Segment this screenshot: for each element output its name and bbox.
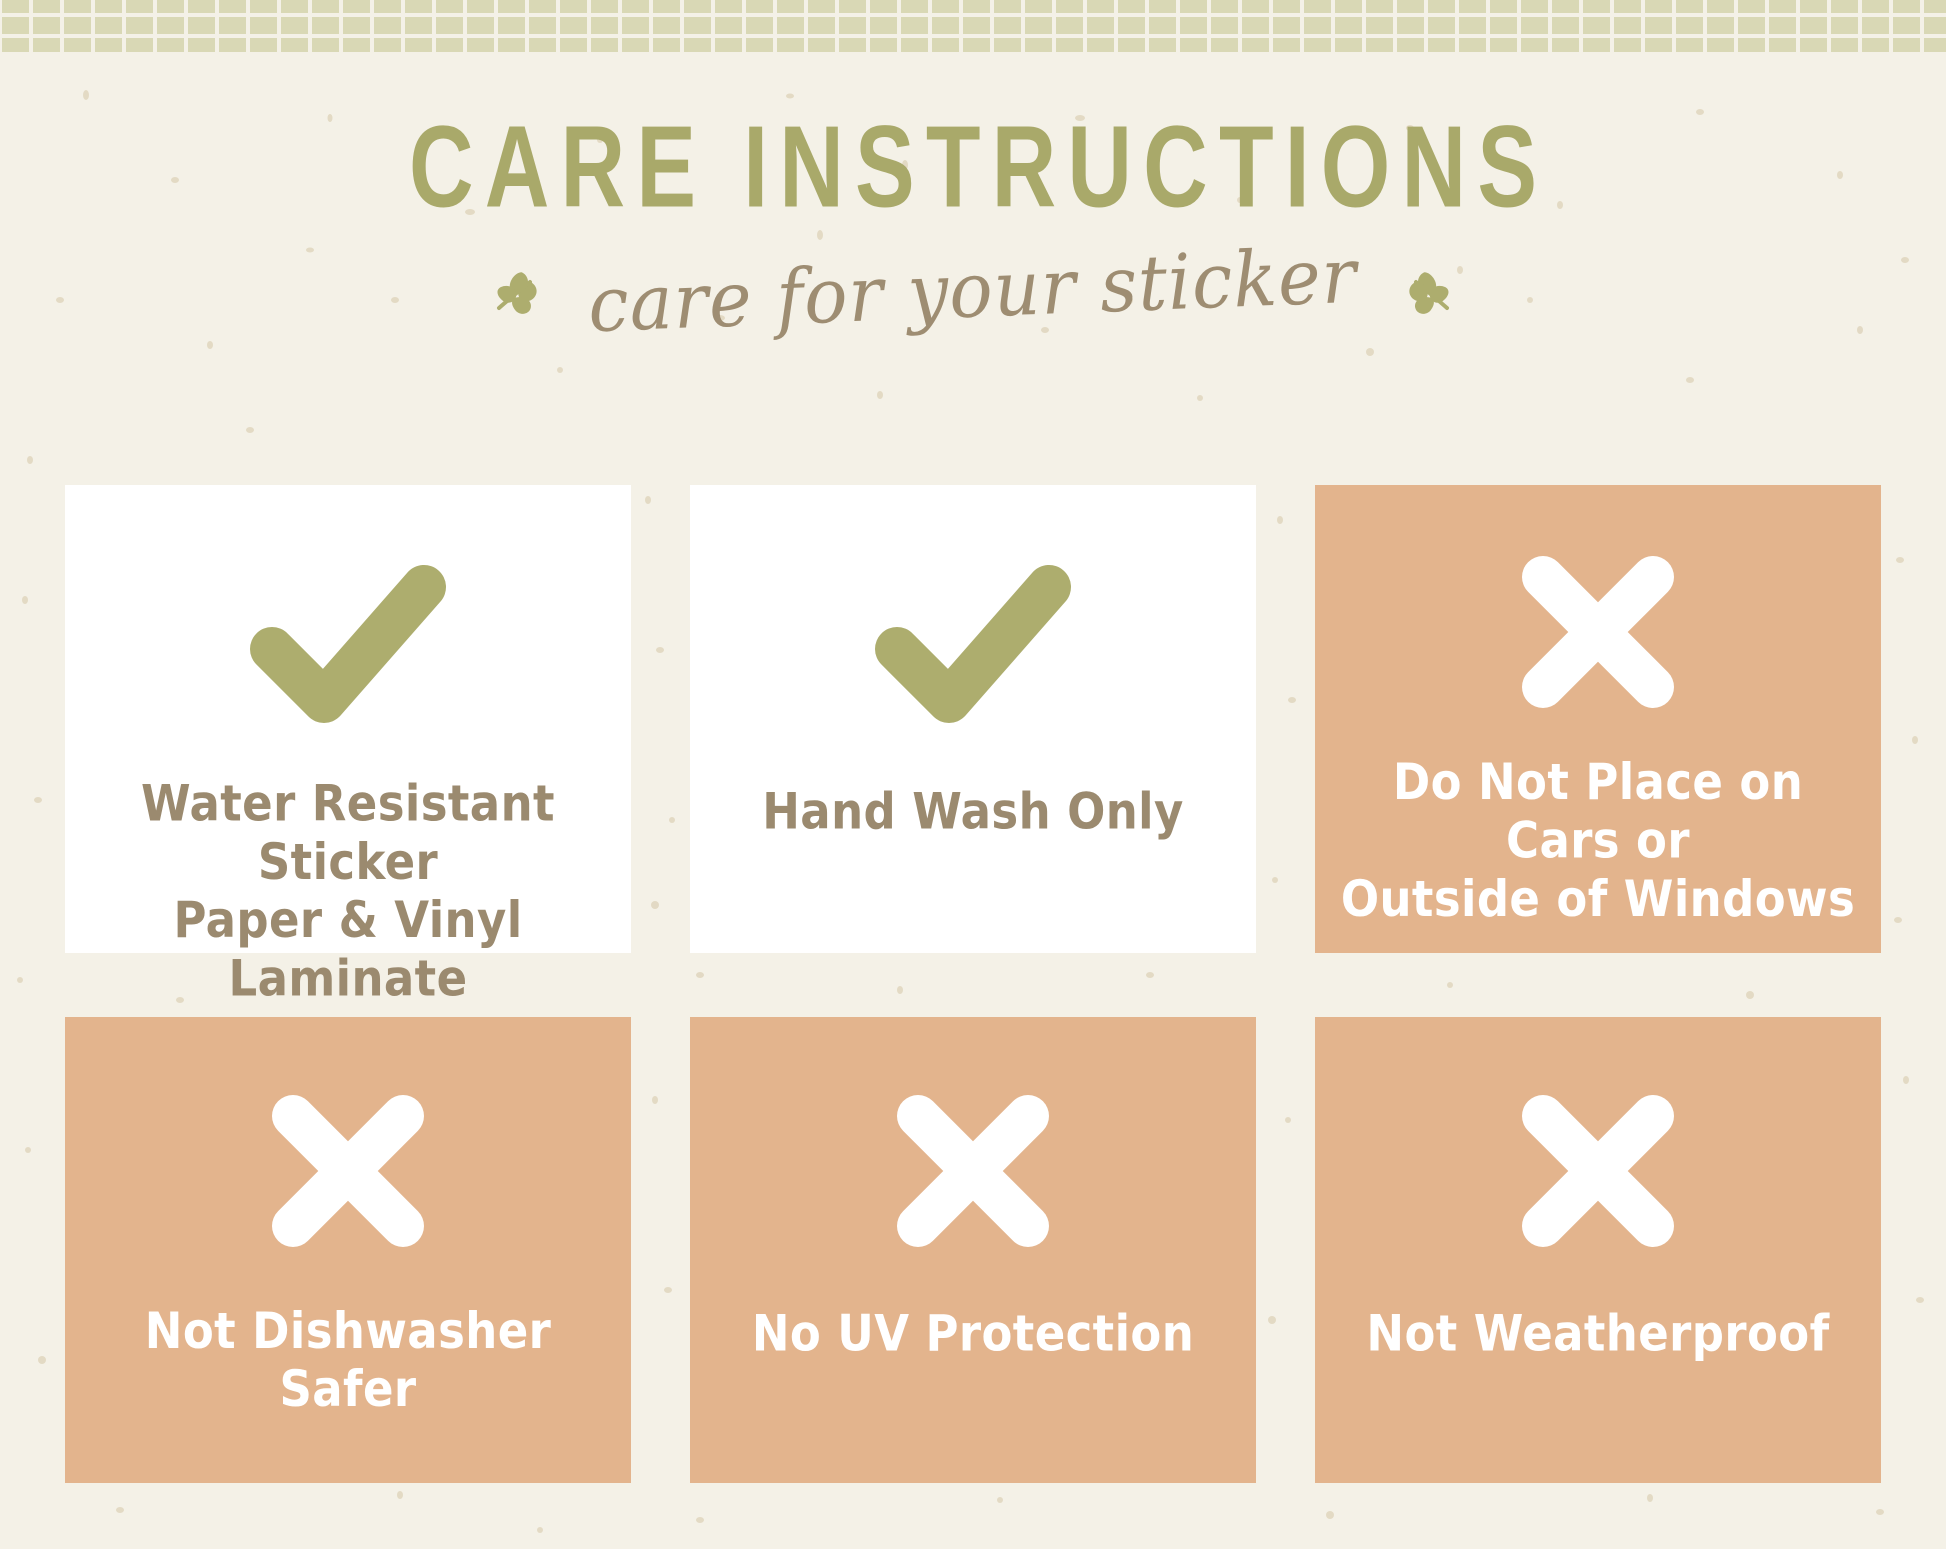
subtitle-row: care for your sticker bbox=[0, 236, 1946, 344]
card-caption: Not Dishwasher Safer bbox=[65, 1302, 631, 1419]
checkered-band bbox=[0, 0, 1946, 58]
care-card: No UV Protection bbox=[690, 1017, 1256, 1483]
care-card-grid: Water Resistant StickerPaper & Vinyl Lam… bbox=[65, 485, 1881, 1483]
card-caption-line: Not Dishwasher Safer bbox=[87, 1302, 609, 1419]
care-instructions-poster: CARE INSTRUCTIONS care for your sticker bbox=[0, 0, 1946, 1549]
poster-header: CARE INSTRUCTIONS care for your sticker bbox=[0, 108, 1946, 344]
card-caption: Not Weatherproof bbox=[1344, 1304, 1851, 1362]
card-caption: Water Resistant StickerPaper & Vinyl Lam… bbox=[65, 774, 631, 1008]
card-caption-line: Water Resistant Sticker bbox=[87, 774, 609, 891]
care-card: Not Weatherproof bbox=[1315, 1017, 1881, 1483]
card-caption-line: Paper & Vinyl Laminate bbox=[87, 891, 609, 1008]
cross-icon bbox=[1513, 1017, 1683, 1307]
band-fade bbox=[0, 52, 1946, 60]
leaf-sprig-icon bbox=[1396, 258, 1460, 322]
cross-icon bbox=[263, 1017, 433, 1307]
card-caption-line: Hand Wash Only bbox=[762, 782, 1183, 840]
page-title: CARE INSTRUCTIONS bbox=[136, 108, 1810, 227]
care-card: Not Dishwasher Safer bbox=[65, 1017, 631, 1483]
card-caption-line: No UV Protection bbox=[752, 1304, 1194, 1362]
page-subtitle: care for your sticker bbox=[549, 236, 1396, 345]
cross-icon bbox=[1513, 485, 1683, 761]
card-caption: Do Not Place on Cars orOutside of Window… bbox=[1315, 753, 1881, 928]
check-icon bbox=[873, 485, 1073, 785]
care-card: Water Resistant StickerPaper & Vinyl Lam… bbox=[65, 485, 631, 953]
care-card: Hand Wash Only bbox=[690, 485, 1256, 953]
card-caption-line: Not Weatherproof bbox=[1366, 1304, 1829, 1362]
cross-icon bbox=[888, 1017, 1058, 1307]
care-card: Do Not Place on Cars orOutside of Window… bbox=[1315, 485, 1881, 953]
leaf-sprig-icon bbox=[486, 258, 550, 322]
card-caption: No UV Protection bbox=[730, 1304, 1216, 1362]
check-icon bbox=[248, 485, 448, 785]
card-caption-line: Do Not Place on Cars or bbox=[1337, 753, 1859, 870]
card-caption: Hand Wash Only bbox=[740, 782, 1205, 840]
card-caption-line: Outside of Windows bbox=[1337, 870, 1859, 928]
